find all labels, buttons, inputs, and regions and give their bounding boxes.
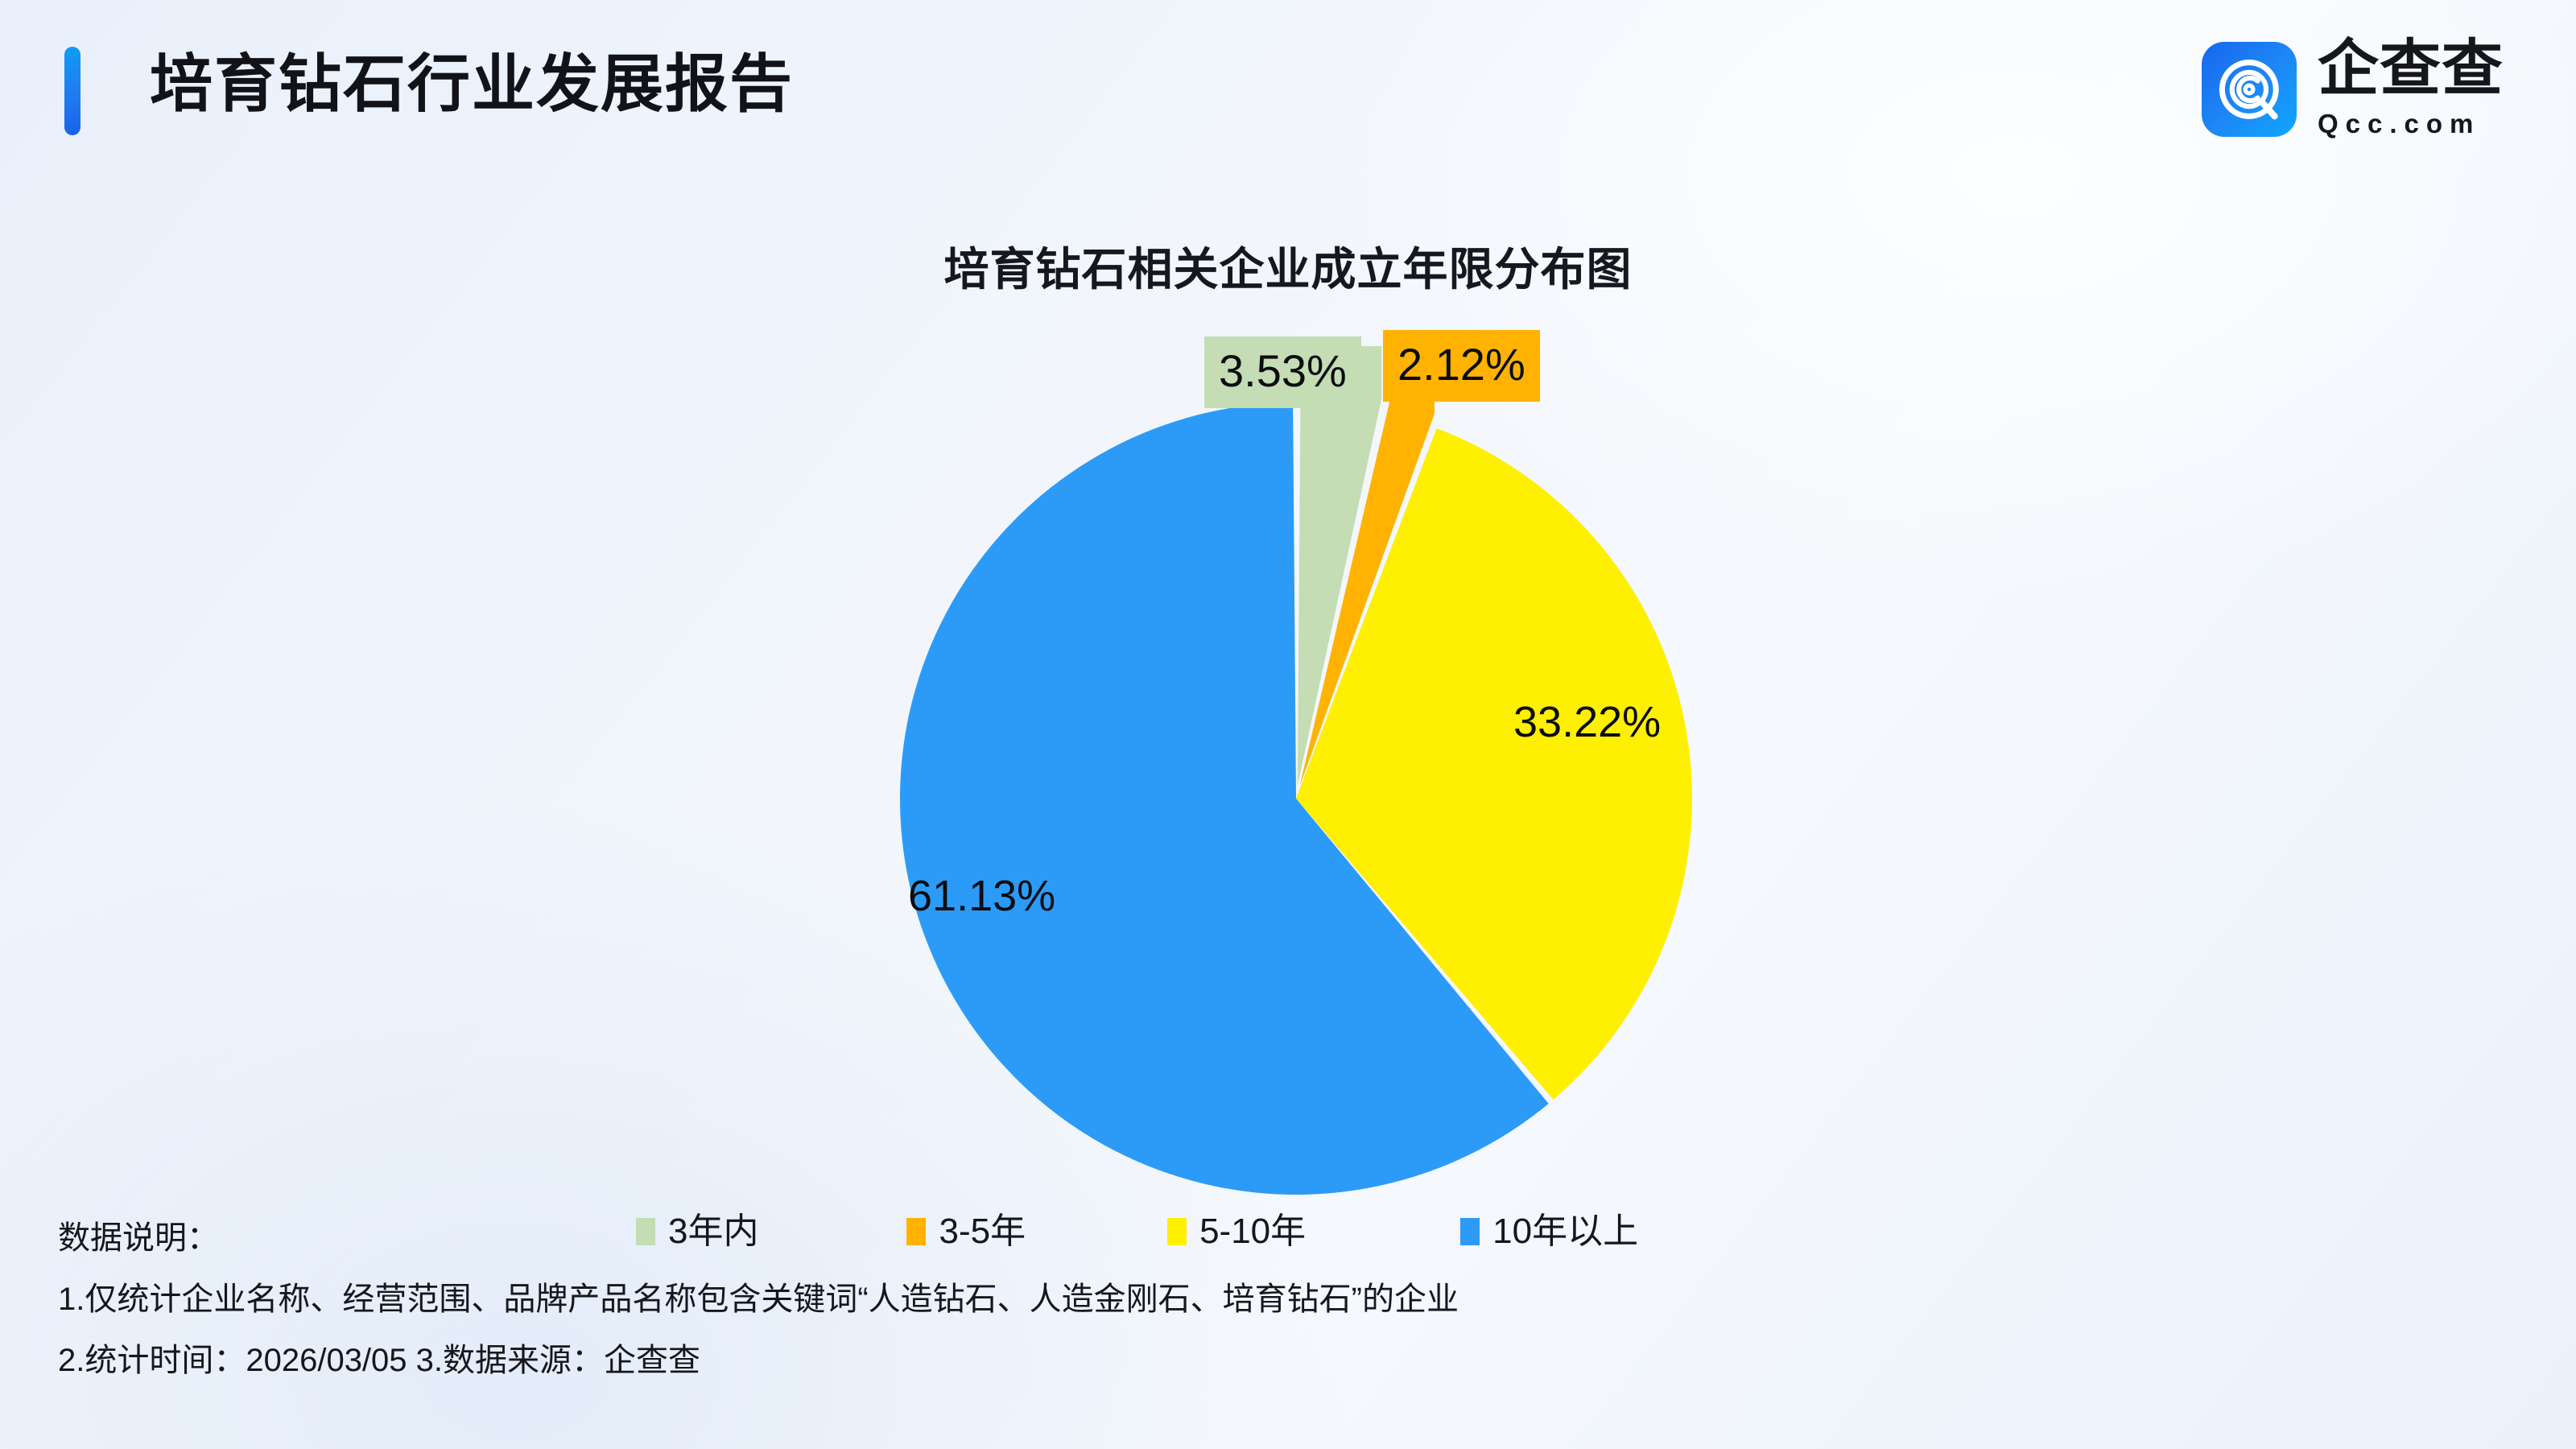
pie-slice-label: 61.13% — [908, 871, 1055, 921]
pie-slice-label: 3.53% — [1204, 336, 1361, 408]
qcc-brand-logo: 企查查 Qcc.com — [2202, 39, 2504, 139]
note-line-1: 1.仅统计企业名称、经营范围、品牌产品名称包含关键词“人造钻石、人造金刚石、培育… — [58, 1283, 1459, 1315]
pie-slice[interactable] — [1298, 390, 1381, 786]
notes-title: 数据说明： — [58, 1222, 1459, 1254]
legend-swatch-icon — [1460, 1218, 1480, 1245]
legend-item-label: 10年以上 — [1492, 1214, 1638, 1249]
pie-slice-label: 33.22% — [1513, 697, 1661, 747]
pie-slice[interactable] — [1300, 401, 1435, 786]
chart-title: 培育钻石相关企业成立年限分布图 — [0, 233, 2576, 299]
page-title: 培育钻石行业发展报告 — [150, 42, 794, 126]
qcc-logo-mark-icon — [2202, 42, 2297, 137]
pie-slice-label: 2.12% — [1383, 330, 1540, 402]
logo-brand-en: Qcc.com — [2318, 109, 2480, 139]
pie-slice[interactable] — [900, 402, 1549, 1195]
data-notes: 数据说明： 1.仅统计企业名称、经营范围、品牌产品名称包含关键词“人造钻石、人造… — [58, 1222, 1459, 1377]
note-line-2: 2.统计时间：2026/03/05 3.数据来源：企查查 — [58, 1344, 1459, 1377]
logo-brand-cn: 企查查 — [2318, 39, 2504, 100]
pie-label-connector — [1301, 346, 1382, 398]
legend-item[interactable]: 10年以上 — [1460, 1214, 1638, 1249]
pie-slice[interactable] — [1296, 428, 1692, 1100]
pie-label-connector — [1390, 340, 1435, 414]
report-page: 培育钻石行业发展报告 企查查 Qcc.com 培育钻石相关企业成立年限分布图 3… — [0, 0, 2576, 1449]
title-accent-bar — [64, 47, 80, 135]
